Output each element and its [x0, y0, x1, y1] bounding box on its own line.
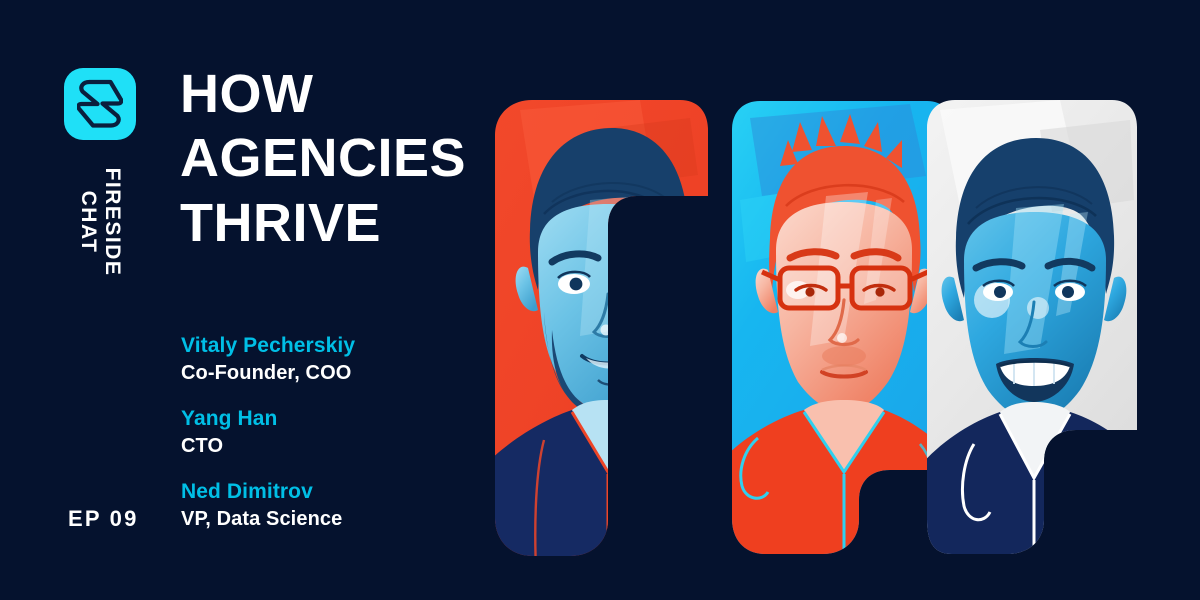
vertical-brand-text: FIRESIDE CHAT	[64, 152, 136, 292]
brand-line-fireside: FIRESIDE	[101, 168, 123, 277]
portrait-panel-ned	[915, 90, 1155, 570]
portrait-panels-svg	[440, 0, 1200, 600]
episode-card: FIRESIDE CHAT HOW AGENCIES THRIVE Vitaly…	[0, 0, 1200, 600]
brand-logo	[64, 68, 136, 140]
episode-badge: EP 09	[68, 506, 139, 532]
portrait-panel-vitaly	[480, 90, 730, 570]
speaker-portrait-artwork	[440, 0, 1200, 600]
brand-line-chat: CHAT	[77, 191, 99, 254]
sigma-bolt-logo-icon	[77, 79, 123, 129]
